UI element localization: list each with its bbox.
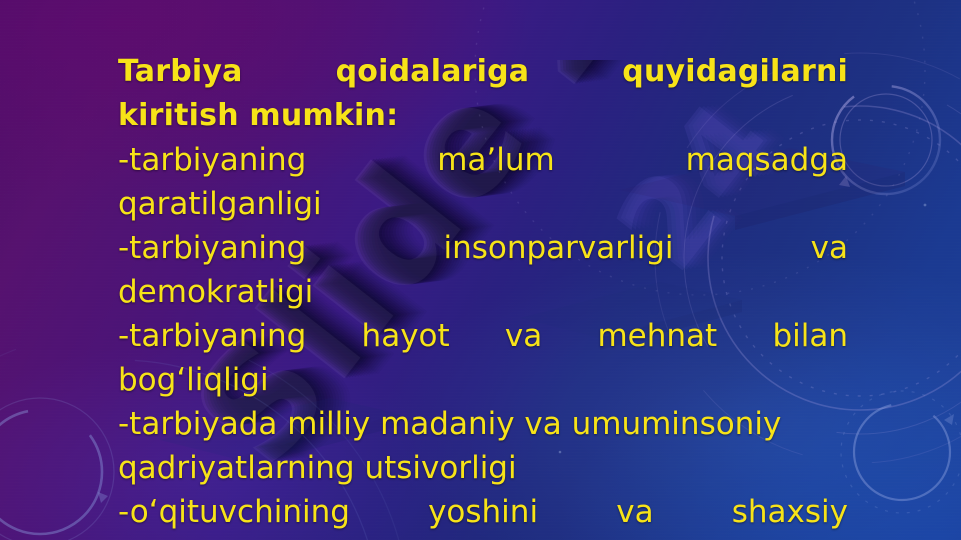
bullet-line-1a: -tarbiyaning ma’lum maqsadga xyxy=(118,138,848,182)
bullet-line-1b: qaratilganligi xyxy=(118,182,848,226)
heading-line-1: Tarbiya qoidalariga quyidagilarni xyxy=(118,50,848,94)
slide-canvas: Slide 24 24 xyxy=(0,0,961,540)
heading-line-2: kiritish mumkin: xyxy=(118,94,848,138)
bullet-line-4b: qadriyatlarning utsivorligi xyxy=(118,446,848,490)
bullet-line-3a: -tarbiyaning hayot va mehnat bilan xyxy=(118,314,848,358)
bullet-line-3b: bog‘liqligi xyxy=(118,358,848,402)
bullet-line-5a: -o‘qituvchining yoshini va shaxsiy xyxy=(118,490,848,534)
slide-text-block: Tarbiya qoidalariga quyidagilarni kiriti… xyxy=(118,50,848,534)
bullet-line-2b: demokratligi xyxy=(118,270,848,314)
bullet-line-2a: -tarbiyaning insonparvarligi va xyxy=(118,226,848,270)
bullet-line-4a: -tarbiyada milliy madaniy va umuminsoniy xyxy=(118,402,848,446)
